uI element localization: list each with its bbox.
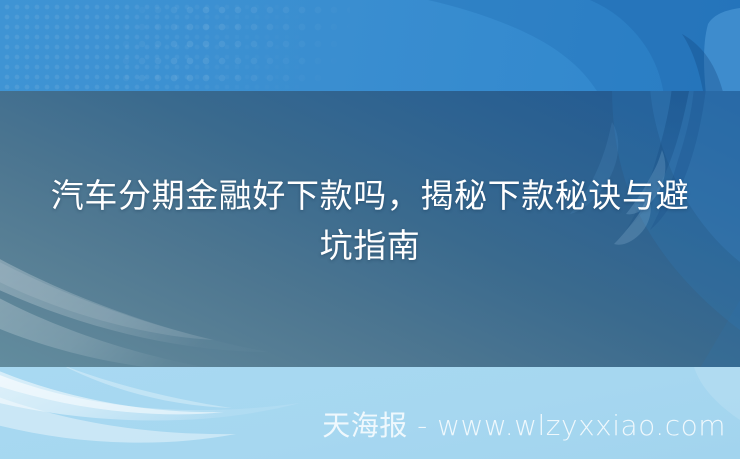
title-block: 汽车分期金融好下款吗，揭秘下款秘诀与避坑指南 [0,171,740,271]
poster-title: 汽车分期金融好下款吗，揭秘下款秘诀与避坑指南 [36,171,704,271]
poster-canvas: 汽车分期金融好下款吗，揭秘下款秘诀与避坑指南 天海报 - www.wlzyxxi… [0,0,740,459]
top-color-band [0,0,740,91]
site-watermark: 天海报 - www.wlzyxxiao.com [322,409,726,443]
dot-grid-texture-secondary [120,4,350,88]
